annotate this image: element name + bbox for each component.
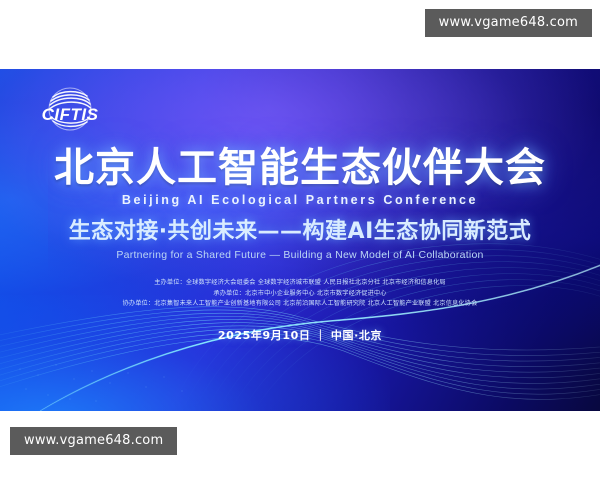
- organizer-line-host: 主办单位：全球数字经济大会组委会 全球数字经济城市联盟 人民日报社北京分社 北京…: [0, 278, 600, 289]
- page-title-en: Beijing AI Ecological Partners Conferenc…: [0, 193, 600, 207]
- watermark-bottom: www.vgame648.com: [10, 427, 177, 455]
- subtitle-cn: 生态对接·共创未来——构建AI生态协同新范式: [0, 221, 600, 243]
- organizer-list: 主办单位：全球数字经济大会组委会 全球数字经济城市联盟 人民日报社北京分社 北京…: [0, 278, 600, 310]
- watermark-top: www.vgame648.com: [425, 9, 592, 37]
- event-date-location: 2025年9月10日 ｜ 中国·北京: [0, 327, 600, 343]
- conference-banner: CIFTIS 北京人工智能生态伙伴大会 Beijing AI Ecologica…: [0, 69, 600, 411]
- banner-content: 北京人工智能生态伙伴大会 Beijing AI Ecological Partn…: [0, 69, 600, 411]
- page-title-cn: 北京人工智能生态伙伴大会: [0, 148, 600, 188]
- organizer-line-undertaker: 承办单位：北京市中小企业服务中心 北京市数字经济促进中心: [0, 289, 600, 300]
- organizer-line-coorganizer: 协办单位：北京集智未来人工智能产业创新基地有限公司 北京前沿国际人工智能研究院 …: [0, 299, 600, 310]
- subtitle-en: Partnering for a Shared Future — Buildin…: [0, 249, 600, 261]
